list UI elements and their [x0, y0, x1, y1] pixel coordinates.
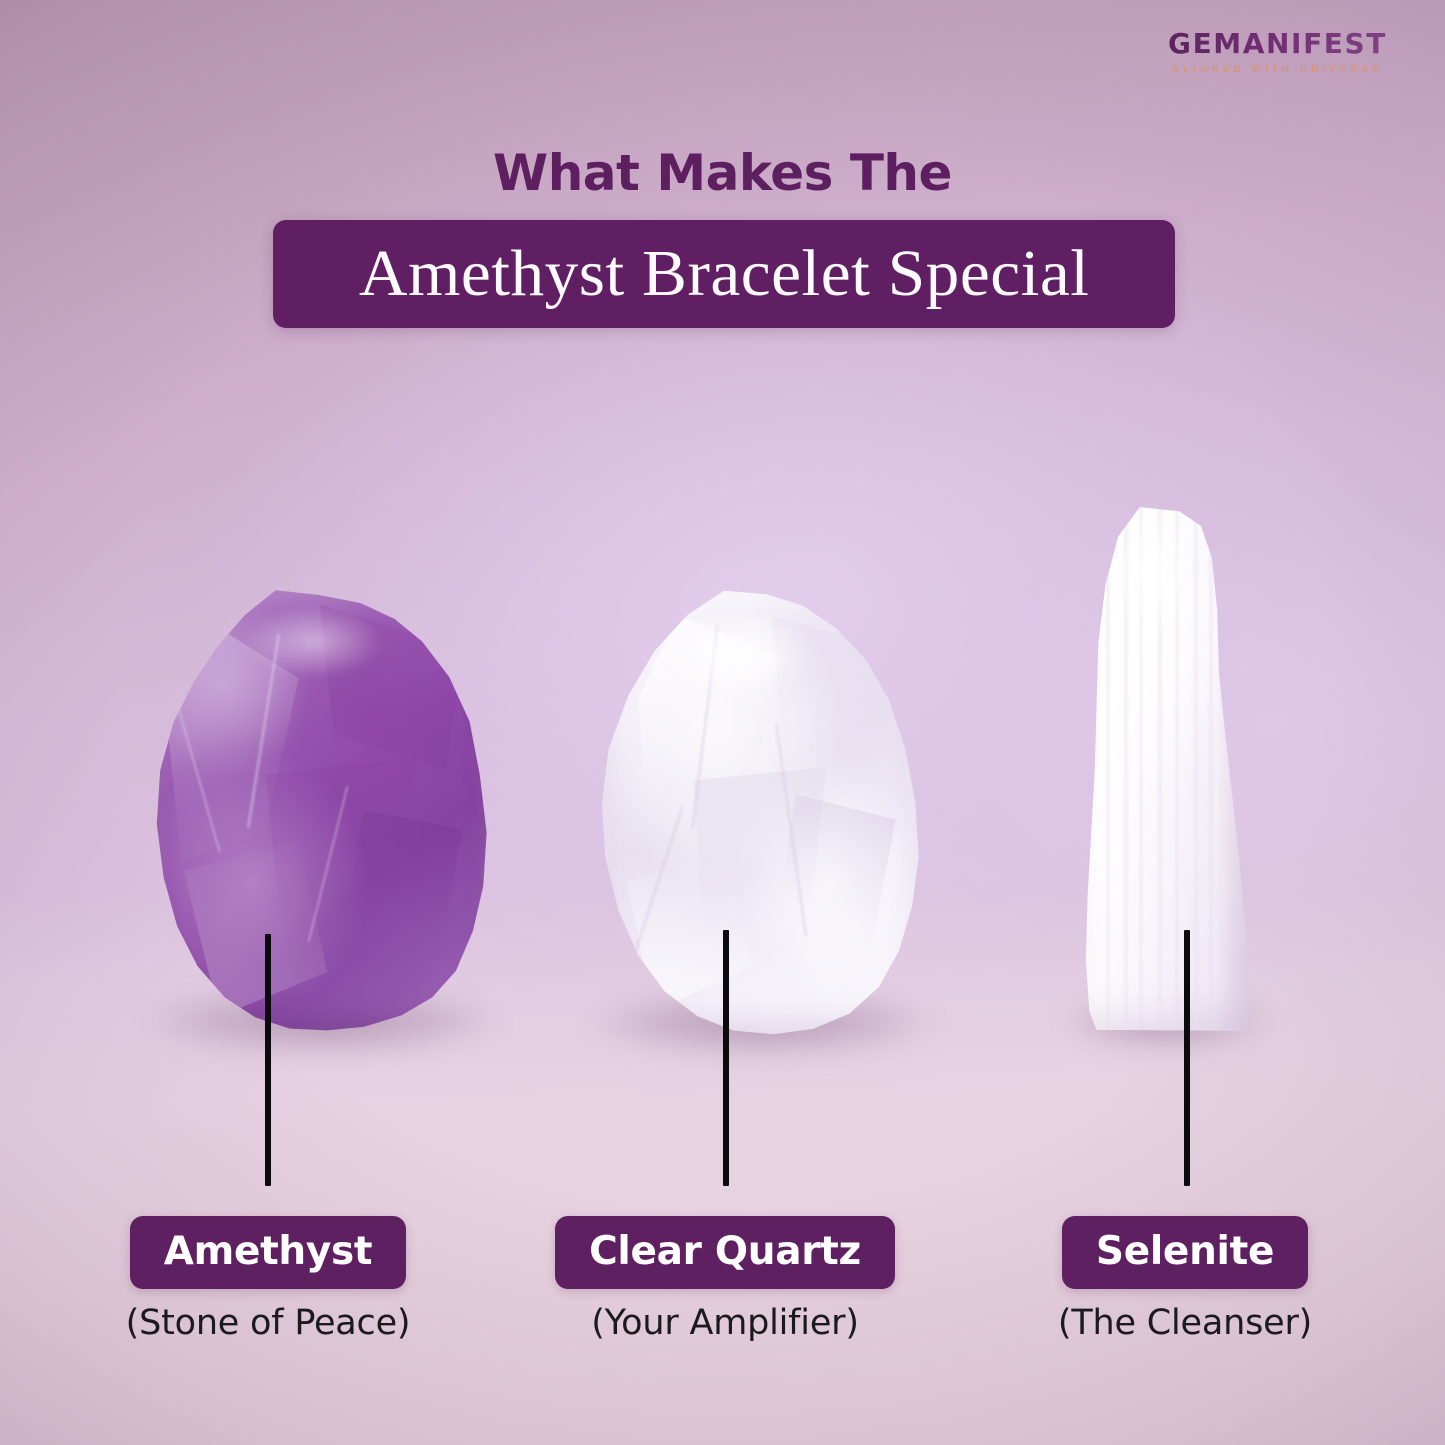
selenite-badge[interactable]: Selenite	[1062, 1216, 1308, 1289]
clear-quartz-label-group: Clear Quartz (Your Amplifier)	[520, 1216, 930, 1343]
brand-name: GEMANIFEST	[1168, 30, 1387, 58]
title-banner: Amethyst Bracelet Special	[273, 220, 1175, 328]
selenite-label-group: Selenite (The Cleanser)	[985, 1216, 1385, 1343]
clear-quartz-badge-label: Clear Quartz	[589, 1229, 861, 1274]
clear-quartz-badge[interactable]: Clear Quartz	[555, 1216, 895, 1289]
headline-kicker: What Makes The	[0, 144, 1445, 202]
amethyst-subtitle: (Stone of Peace)	[68, 1303, 468, 1343]
amethyst-label-group: Amethyst (Stone of Peace)	[68, 1216, 468, 1343]
page-title: Amethyst Bracelet Special	[359, 236, 1090, 312]
selenite-badge-label: Selenite	[1096, 1229, 1274, 1274]
clear-quartz-subtitle: (Your Amplifier)	[520, 1303, 930, 1343]
brand-tagline: ALIGNED WITH UNIVERSE	[1168, 65, 1387, 75]
amethyst-badge[interactable]: Amethyst	[130, 1216, 407, 1289]
brand-logo: GEMANIFEST ALIGNED WITH UNIVERSE	[1168, 30, 1387, 75]
amethyst-badge-label: Amethyst	[164, 1229, 373, 1274]
selenite-subtitle: (The Cleanser)	[985, 1303, 1385, 1343]
poster-canvas: GEMANIFEST ALIGNED WITH UNIVERSE What Ma…	[0, 0, 1445, 1445]
